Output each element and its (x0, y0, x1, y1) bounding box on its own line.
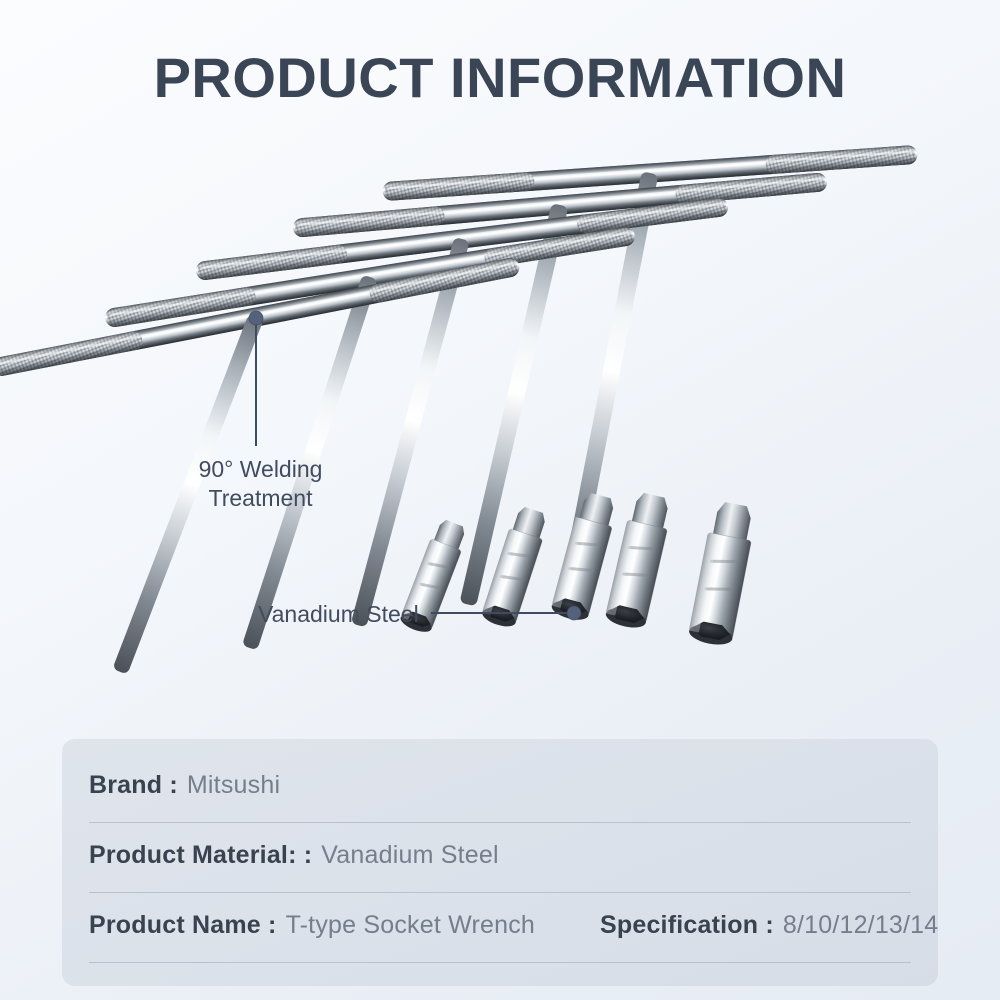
spec-value-product-name: T-type Socket Wrench (286, 911, 535, 939)
spec-cell-product-name: Product Name :T-type Socket Wrench (89, 911, 535, 940)
product-information-page: PRODUCT INFORMATION (0, 0, 1000, 1000)
spec-label-product-name: Product Name : (89, 911, 277, 939)
wrench-set-illustration (0, 105, 1000, 715)
spec-divider-1 (89, 822, 911, 823)
specification-panel: Brand :Mitsushi Product Material: :Vanad… (62, 739, 938, 986)
spec-value-brand: Mitsushi (187, 771, 280, 799)
spec-cell-material: Product Material: :Vanadium Steel (89, 841, 499, 870)
spec-row-name-specification: Product Name :T-type Socket Wrench Speci… (89, 897, 911, 963)
callout-vanadium-steel: Vanadium Steel (258, 600, 419, 629)
spec-row-material: Product Material: :Vanadium Steel (89, 827, 911, 893)
spec-label-brand: Brand : (89, 771, 178, 799)
product-hero-image (0, 105, 1000, 715)
page-title: PRODUCT INFORMATION (0, 47, 1000, 109)
socket-head-4 (604, 491, 674, 631)
spec-label-specification: Specification : (600, 911, 774, 939)
spec-value-material: Vanadium Steel (321, 841, 498, 869)
spec-row-brand: Brand :Mitsushi (89, 757, 911, 823)
callout-welding-treatment: 90° Welding Treatment (148, 455, 373, 513)
socket-head-5 (687, 500, 757, 648)
spec-divider-2 (89, 892, 911, 893)
spec-cell-specification: Specification :8/10/12/13/14 (600, 911, 938, 940)
spec-value-specification: 8/10/12/13/14 (783, 911, 939, 939)
spec-divider-3 (89, 962, 911, 963)
spec-cell-brand: Brand :Mitsushi (89, 771, 280, 800)
spec-label-material: Product Material: : (89, 841, 312, 869)
